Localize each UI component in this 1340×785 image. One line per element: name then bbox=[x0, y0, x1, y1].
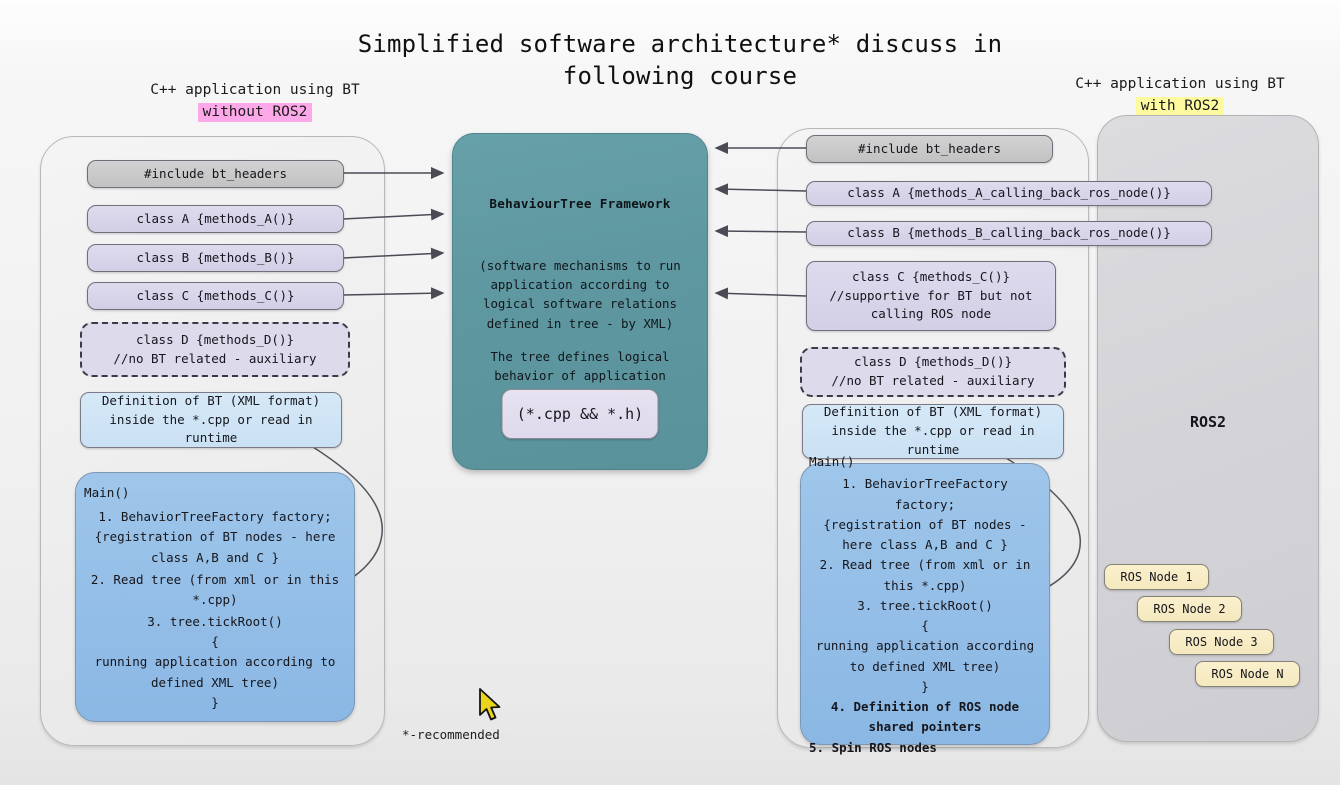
ros-node-2: ROS Node 2 bbox=[1137, 596, 1242, 622]
framework-files-chip: (*.cpp && *.h) bbox=[502, 389, 659, 439]
ros-node-n: ROS Node N bbox=[1195, 661, 1300, 687]
left-header-highlight: without ROS2 bbox=[198, 103, 313, 122]
right-include-box: #include bt_headers bbox=[806, 135, 1053, 163]
diagram-canvas: Simplified software architecture* discus… bbox=[0, 0, 1340, 785]
right-main-step1: 1. BehaviorTreeFactory factory; {registr… bbox=[809, 474, 1041, 555]
left-class-c-box: class C {methods_C()} bbox=[87, 282, 344, 310]
right-column-header: C++ application using BT with ROS2 bbox=[1020, 73, 1340, 118]
right-main-label: Main() bbox=[809, 452, 855, 472]
left-class-d-box: class D {methods_D()} //no BT related - … bbox=[80, 322, 350, 377]
right-header-highlight: with ROS2 bbox=[1136, 97, 1225, 116]
ros-node-3: ROS Node 3 bbox=[1169, 629, 1274, 655]
left-class-b-box: class B {methods_B()} bbox=[87, 244, 344, 272]
left-bt-definition-box: Definition of BT (XML format) inside the… bbox=[80, 392, 342, 448]
right-class-c-box: class C {methods_C()} //supportive for B… bbox=[806, 261, 1056, 331]
framework-paragraph-1: (software mechanisms to run application … bbox=[461, 256, 699, 333]
right-main-box: Main() 1. BehaviorTreeFactory factory; {… bbox=[800, 463, 1050, 745]
left-main-step3: 3. tree.tickRoot() { running application… bbox=[84, 612, 346, 713]
left-column-header: C++ application using BT without ROS2 bbox=[75, 79, 435, 124]
behaviourtree-framework-box: BehaviourTree Framework (software mechan… bbox=[452, 133, 708, 470]
left-header-line1: C++ application using BT bbox=[150, 82, 360, 98]
page-title: Simplified software architecture* discus… bbox=[330, 28, 1030, 93]
right-main-step2: 2. Read tree (from xml or in this *.cpp) bbox=[809, 555, 1041, 596]
right-main-step4: 4. Definition of ROS node shared pointer… bbox=[809, 697, 1041, 738]
left-main-box: Main() 1. BehaviorTreeFactory factory; {… bbox=[75, 472, 355, 722]
right-main-step5: 5. Spin ROS nodes bbox=[809, 738, 937, 758]
framework-title: BehaviourTree Framework bbox=[453, 196, 707, 211]
ros2-title: ROS2 bbox=[1097, 413, 1319, 431]
footnote: *-recommended bbox=[402, 727, 500, 742]
framework-paragraph-2: The tree defines logical behavior of app… bbox=[461, 347, 699, 385]
left-main-step2: 2. Read tree (from xml or in this *.cpp) bbox=[84, 570, 346, 611]
framework-description: (software mechanisms to run application … bbox=[461, 256, 699, 385]
right-class-b-box: class B {methods_B_calling_back_ros_node… bbox=[806, 221, 1212, 246]
ros-node-1: ROS Node 1 bbox=[1104, 564, 1209, 590]
right-class-a-box: class A {methods_A_calling_back_ros_node… bbox=[806, 181, 1212, 206]
right-class-d-box: class D {methods_D()} //no BT related - … bbox=[800, 347, 1066, 397]
right-bt-definition-box: Definition of BT (XML format) inside the… bbox=[802, 404, 1064, 459]
right-main-step3: 3. tree.tickRoot() { running application… bbox=[809, 596, 1041, 697]
left-main-label: Main() bbox=[84, 483, 130, 503]
left-include-box: #include bt_headers bbox=[87, 160, 344, 188]
left-class-a-box: class A {methods_A()} bbox=[87, 205, 344, 233]
mouse-cursor-icon bbox=[478, 688, 504, 722]
right-header-line1: C++ application using BT bbox=[1075, 76, 1285, 92]
left-main-step1: 1. BehaviorTreeFactory factory; {registr… bbox=[84, 507, 346, 568]
